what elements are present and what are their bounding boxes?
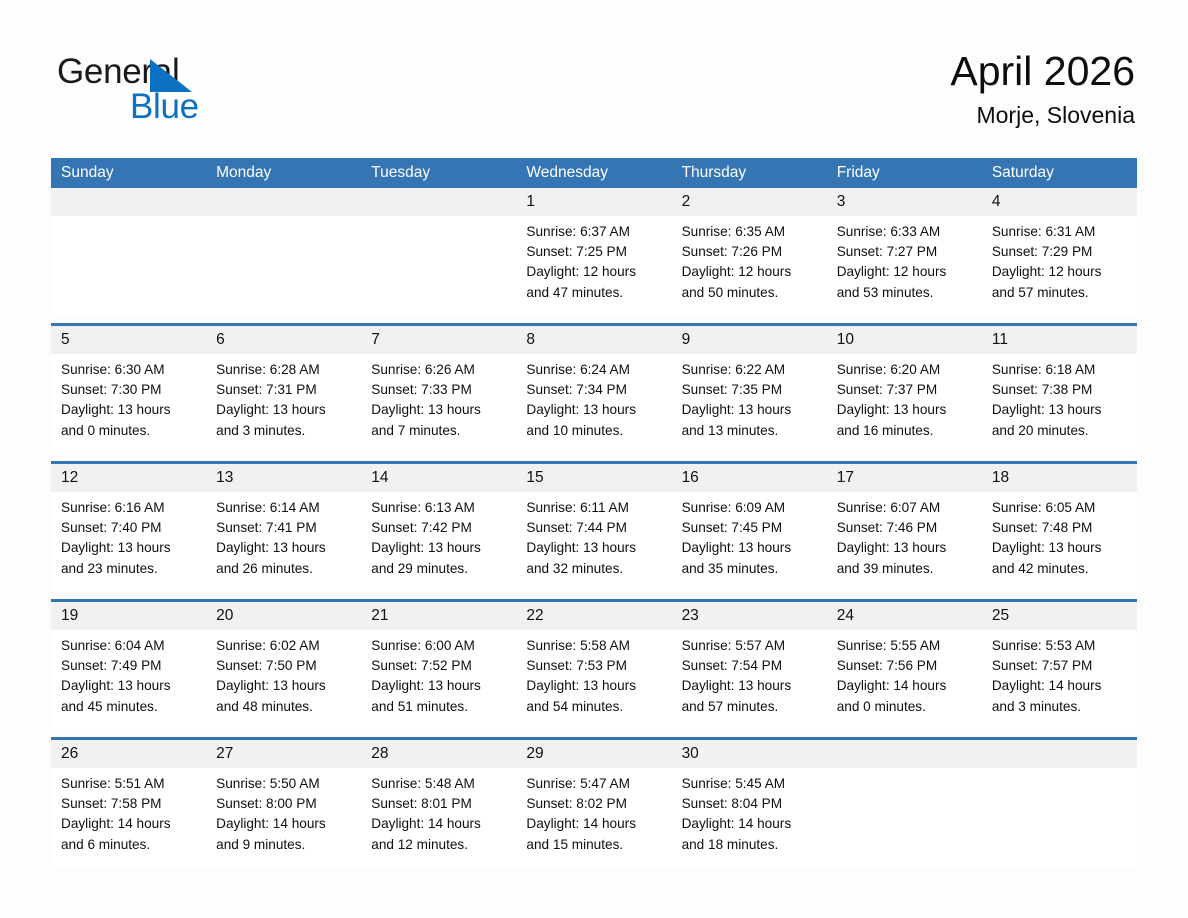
sunset-text: Sunset: 7:33 PM <box>371 380 508 400</box>
sunset-text: Sunset: 7:49 PM <box>61 656 198 676</box>
day-number[interactable]: 5 <box>51 326 206 354</box>
sunrise-text: Sunrise: 6:28 AM <box>216 360 353 380</box>
daylight-text-line1: Daylight: 12 hours <box>837 262 974 282</box>
daylight-text-line1: Daylight: 14 hours <box>837 676 974 696</box>
sunrise-text: Sunrise: 6:09 AM <box>682 498 819 518</box>
sunrise-text: Sunrise: 6:35 AM <box>682 222 819 242</box>
sunrise-text: Sunrise: 6:30 AM <box>61 360 198 380</box>
daylight-text-line1: Daylight: 13 hours <box>992 400 1129 420</box>
sunset-text: Sunset: 7:52 PM <box>371 656 508 676</box>
day-number-empty <box>827 740 982 768</box>
sunset-text: Sunset: 7:40 PM <box>61 518 198 538</box>
sunrise-text: Sunrise: 6:31 AM <box>992 222 1129 242</box>
sunrise-text: Sunrise: 6:26 AM <box>371 360 508 380</box>
day-cell[interactable]: Sunrise: 6:31 AMSunset: 7:29 PMDaylight:… <box>982 216 1137 316</box>
daylight-text-line1: Daylight: 12 hours <box>526 262 663 282</box>
sunset-text: Sunset: 7:27 PM <box>837 242 974 262</box>
day-cell[interactable]: Sunrise: 5:45 AMSunset: 8:04 PMDaylight:… <box>672 768 827 868</box>
week-daynumber-row: 2627282930 <box>51 740 1137 768</box>
weeks-container: 1234Sunrise: 6:37 AMSunset: 7:25 PMDayli… <box>51 188 1137 868</box>
page-subtitle: Morje, Slovenia <box>950 100 1135 130</box>
daylight-text-line1: Daylight: 13 hours <box>682 400 819 420</box>
day-number[interactable]: 30 <box>672 740 827 768</box>
sunset-text: Sunset: 8:04 PM <box>682 794 819 814</box>
day-cell[interactable]: Sunrise: 6:11 AMSunset: 7:44 PMDaylight:… <box>516 492 671 592</box>
sunrise-text: Sunrise: 6:02 AM <box>216 636 353 656</box>
sunrise-text: Sunrise: 6:04 AM <box>61 636 198 656</box>
day-number[interactable]: 27 <box>206 740 361 768</box>
sunset-text: Sunset: 7:58 PM <box>61 794 198 814</box>
day-cell[interactable]: Sunrise: 5:55 AMSunset: 7:56 PMDaylight:… <box>827 630 982 730</box>
sunset-text: Sunset: 7:34 PM <box>526 380 663 400</box>
day-number[interactable]: 6 <box>206 326 361 354</box>
sunset-text: Sunset: 7:42 PM <box>371 518 508 538</box>
daylight-text-line1: Daylight: 13 hours <box>526 538 663 558</box>
day-number-empty <box>361 188 516 216</box>
sunrise-text: Sunrise: 5:47 AM <box>526 774 663 794</box>
day-cell[interactable]: Sunrise: 5:51 AMSunset: 7:58 PMDaylight:… <box>51 768 206 868</box>
daylight-text-line1: Daylight: 13 hours <box>216 676 353 696</box>
daylight-text-line2: and 0 minutes. <box>837 697 974 717</box>
daylight-text-line2: and 29 minutes. <box>371 559 508 579</box>
page-header: General Blue April 2026 Morje, Slovenia <box>0 0 1188 158</box>
day-cell[interactable]: Sunrise: 6:05 AMSunset: 7:48 PMDaylight:… <box>982 492 1137 592</box>
sunrise-text: Sunrise: 5:58 AM <box>526 636 663 656</box>
daylight-text-line1: Daylight: 13 hours <box>371 538 508 558</box>
day-cell[interactable]: Sunrise: 6:24 AMSunset: 7:34 PMDaylight:… <box>516 354 671 454</box>
weekday-header-thursday: Thursday <box>672 158 827 188</box>
sunrise-text: Sunrise: 5:48 AM <box>371 774 508 794</box>
sunrise-text: Sunrise: 6:14 AM <box>216 498 353 518</box>
day-number[interactable]: 23 <box>672 602 827 630</box>
daylight-text-line1: Daylight: 14 hours <box>371 814 508 834</box>
daylight-text-line2: and 48 minutes. <box>216 697 353 717</box>
daylight-text-line2: and 45 minutes. <box>61 697 198 717</box>
sunrise-text: Sunrise: 5:53 AM <box>992 636 1129 656</box>
daylight-text-line2: and 54 minutes. <box>526 697 663 717</box>
daylight-text-line1: Daylight: 13 hours <box>61 676 198 696</box>
day-cell[interactable]: Sunrise: 6:04 AMSunset: 7:49 PMDaylight:… <box>51 630 206 730</box>
daylight-text-line2: and 26 minutes. <box>216 559 353 579</box>
daylight-text-line2: and 20 minutes. <box>992 421 1129 441</box>
week-content-row: Sunrise: 6:37 AMSunset: 7:25 PMDaylight:… <box>51 216 1137 316</box>
sunrise-text: Sunrise: 5:51 AM <box>61 774 198 794</box>
sunset-text: Sunset: 7:25 PM <box>526 242 663 262</box>
daylight-text-line2: and 32 minutes. <box>526 559 663 579</box>
day-number[interactable]: 29 <box>516 740 671 768</box>
day-cell[interactable]: Sunrise: 6:07 AMSunset: 7:46 PMDaylight:… <box>827 492 982 592</box>
day-number[interactable]: 14 <box>361 464 516 492</box>
day-cell[interactable]: Sunrise: 5:58 AMSunset: 7:53 PMDaylight:… <box>516 630 671 730</box>
calendar-week-row: 1234Sunrise: 6:37 AMSunset: 7:25 PMDayli… <box>51 188 1137 316</box>
daylight-text-line2: and 51 minutes. <box>371 697 508 717</box>
daylight-text-line2: and 47 minutes. <box>526 283 663 303</box>
calendar-week-row: 12131415161718Sunrise: 6:16 AMSunset: 7:… <box>51 461 1137 592</box>
weekday-header-wednesday: Wednesday <box>516 158 671 188</box>
sunset-text: Sunset: 7:54 PM <box>682 656 819 676</box>
day-cell[interactable]: Sunrise: 5:48 AMSunset: 8:01 PMDaylight:… <box>361 768 516 868</box>
day-number[interactable]: 9 <box>672 326 827 354</box>
day-number-empty <box>982 740 1137 768</box>
day-cell[interactable]: Sunrise: 6:00 AMSunset: 7:52 PMDaylight:… <box>361 630 516 730</box>
daylight-text-line2: and 35 minutes. <box>682 559 819 579</box>
daylight-text-line2: and 39 minutes. <box>837 559 974 579</box>
daylight-text-line1: Daylight: 13 hours <box>526 400 663 420</box>
daylight-text-line1: Daylight: 12 hours <box>682 262 819 282</box>
daylight-text-line1: Daylight: 14 hours <box>526 814 663 834</box>
daylight-text-line2: and 15 minutes. <box>526 835 663 855</box>
day-number[interactable]: 17 <box>827 464 982 492</box>
day-number[interactable]: 24 <box>827 602 982 630</box>
day-cell-empty <box>982 768 1137 868</box>
day-number[interactable]: 28 <box>361 740 516 768</box>
daylight-text-line2: and 53 minutes. <box>837 283 974 303</box>
sunset-text: Sunset: 7:38 PM <box>992 380 1129 400</box>
daylight-text-line2: and 18 minutes. <box>682 835 819 855</box>
daylight-text-line2: and 9 minutes. <box>216 835 353 855</box>
day-cell[interactable]: Sunrise: 6:35 AMSunset: 7:26 PMDaylight:… <box>672 216 827 316</box>
sunset-text: Sunset: 7:53 PM <box>526 656 663 676</box>
day-cell[interactable]: Sunrise: 6:13 AMSunset: 7:42 PMDaylight:… <box>361 492 516 592</box>
day-cell[interactable]: Sunrise: 5:57 AMSunset: 7:54 PMDaylight:… <box>672 630 827 730</box>
daylight-text-line1: Daylight: 13 hours <box>61 538 198 558</box>
daylight-text-line1: Daylight: 13 hours <box>526 676 663 696</box>
sunrise-text: Sunrise: 6:13 AM <box>371 498 508 518</box>
daylight-text-line2: and 57 minutes. <box>992 283 1129 303</box>
sunset-text: Sunset: 7:44 PM <box>526 518 663 538</box>
calendar-week-row: 2627282930Sunrise: 5:51 AMSunset: 7:58 P… <box>51 737 1137 868</box>
sunrise-text: Sunrise: 6:05 AM <box>992 498 1129 518</box>
day-number[interactable]: 12 <box>51 464 206 492</box>
week-content-row: Sunrise: 6:04 AMSunset: 7:49 PMDaylight:… <box>51 630 1137 730</box>
weekday-header-saturday: Saturday <box>982 158 1137 188</box>
week-content-row: Sunrise: 6:16 AMSunset: 7:40 PMDaylight:… <box>51 492 1137 592</box>
daylight-text-line1: Daylight: 14 hours <box>216 814 353 834</box>
daylight-text-line2: and 7 minutes. <box>371 421 508 441</box>
week-daynumber-row: 567891011 <box>51 326 1137 354</box>
sunrise-text: Sunrise: 6:16 AM <box>61 498 198 518</box>
day-cell[interactable]: Sunrise: 6:33 AMSunset: 7:27 PMDaylight:… <box>827 216 982 316</box>
day-number[interactable]: 22 <box>516 602 671 630</box>
daylight-text-line1: Daylight: 13 hours <box>682 676 819 696</box>
daylight-text-line2: and 16 minutes. <box>837 421 974 441</box>
day-cell[interactable]: Sunrise: 5:50 AMSunset: 8:00 PMDaylight:… <box>206 768 361 868</box>
daylight-text-line2: and 57 minutes. <box>682 697 819 717</box>
sunrise-text: Sunrise: 5:55 AM <box>837 636 974 656</box>
weekday-header-monday: Monday <box>206 158 361 188</box>
daylight-text-line1: Daylight: 13 hours <box>61 400 198 420</box>
weekday-header-tuesday: Tuesday <box>361 158 516 188</box>
weekday-header-row: Sunday Monday Tuesday Wednesday Thursday… <box>51 158 1137 188</box>
week-content-row: Sunrise: 6:30 AMSunset: 7:30 PMDaylight:… <box>51 354 1137 454</box>
day-cell[interactable]: Sunrise: 6:37 AMSunset: 7:25 PMDaylight:… <box>516 216 671 316</box>
day-number[interactable]: 16 <box>672 464 827 492</box>
day-number[interactable]: 4 <box>982 188 1137 216</box>
page-title: April 2026 <box>950 46 1135 96</box>
week-daynumber-row: 12131415161718 <box>51 464 1137 492</box>
day-number[interactable]: 7 <box>361 326 516 354</box>
daylight-text-line1: Daylight: 13 hours <box>837 400 974 420</box>
daylight-text-line2: and 23 minutes. <box>61 559 198 579</box>
sunset-text: Sunset: 7:45 PM <box>682 518 819 538</box>
week-daynumber-row: 1234 <box>51 188 1137 216</box>
weekday-header-friday: Friday <box>827 158 982 188</box>
logo-text-blue: Blue <box>130 87 199 127</box>
day-cell[interactable]: Sunrise: 6:16 AMSunset: 7:40 PMDaylight:… <box>51 492 206 592</box>
daylight-text-line2: and 0 minutes. <box>61 421 198 441</box>
day-number[interactable]: 10 <box>827 326 982 354</box>
sunrise-text: Sunrise: 6:00 AM <box>371 636 508 656</box>
sunrise-text: Sunrise: 6:33 AM <box>837 222 974 242</box>
day-cell[interactable]: Sunrise: 6:30 AMSunset: 7:30 PMDaylight:… <box>51 354 206 454</box>
day-cell[interactable]: Sunrise: 6:28 AMSunset: 7:31 PMDaylight:… <box>206 354 361 454</box>
sunset-text: Sunset: 7:37 PM <box>837 380 974 400</box>
daylight-text-line1: Daylight: 12 hours <box>992 262 1129 282</box>
daylight-text-line2: and 12 minutes. <box>371 835 508 855</box>
day-cell-empty <box>206 216 361 316</box>
daylight-text-line1: Daylight: 13 hours <box>837 538 974 558</box>
daylight-text-line1: Daylight: 13 hours <box>992 538 1129 558</box>
sunset-text: Sunset: 8:01 PM <box>371 794 508 814</box>
day-cell[interactable]: Sunrise: 6:14 AMSunset: 7:41 PMDaylight:… <box>206 492 361 592</box>
daylight-text-line2: and 6 minutes. <box>61 835 198 855</box>
daylight-text-line1: Daylight: 14 hours <box>992 676 1129 696</box>
sunset-text: Sunset: 7:50 PM <box>216 656 353 676</box>
day-cell[interactable]: Sunrise: 6:09 AMSunset: 7:45 PMDaylight:… <box>672 492 827 592</box>
week-daynumber-row: 19202122232425 <box>51 602 1137 630</box>
calendar-grid: Sunday Monday Tuesday Wednesday Thursday… <box>51 158 1137 868</box>
daylight-text-line2: and 10 minutes. <box>526 421 663 441</box>
day-number-empty <box>206 188 361 216</box>
day-number[interactable]: 8 <box>516 326 671 354</box>
sunrise-text: Sunrise: 5:45 AM <box>682 774 819 794</box>
week-content-row: Sunrise: 5:51 AMSunset: 7:58 PMDaylight:… <box>51 768 1137 868</box>
day-cell[interactable]: Sunrise: 6:02 AMSunset: 7:50 PMDaylight:… <box>206 630 361 730</box>
day-cell[interactable]: Sunrise: 6:22 AMSunset: 7:35 PMDaylight:… <box>672 354 827 454</box>
day-number-empty <box>51 188 206 216</box>
day-number[interactable]: 21 <box>361 602 516 630</box>
day-number[interactable]: 25 <box>982 602 1137 630</box>
day-number[interactable]: 13 <box>206 464 361 492</box>
day-cell[interactable]: Sunrise: 6:18 AMSunset: 7:38 PMDaylight:… <box>982 354 1137 454</box>
sunset-text: Sunset: 7:46 PM <box>837 518 974 538</box>
sunset-text: Sunset: 7:57 PM <box>992 656 1129 676</box>
day-number[interactable]: 11 <box>982 326 1137 354</box>
sunset-text: Sunset: 8:00 PM <box>216 794 353 814</box>
daylight-text-line1: Daylight: 14 hours <box>682 814 819 834</box>
sunset-text: Sunset: 7:29 PM <box>992 242 1129 262</box>
calendar-week-row: 19202122232425Sunrise: 6:04 AMSunset: 7:… <box>51 599 1137 730</box>
daylight-text-line2: and 3 minutes. <box>216 421 353 441</box>
day-number[interactable]: 15 <box>516 464 671 492</box>
daylight-text-line2: and 42 minutes. <box>992 559 1129 579</box>
daylight-text-line2: and 3 minutes. <box>992 697 1129 717</box>
daylight-text-line1: Daylight: 13 hours <box>682 538 819 558</box>
sunset-text: Sunset: 8:02 PM <box>526 794 663 814</box>
daylight-text-line1: Daylight: 13 hours <box>216 400 353 420</box>
sunrise-text: Sunrise: 6:07 AM <box>837 498 974 518</box>
day-number[interactable]: 19 <box>51 602 206 630</box>
day-cell-empty <box>361 216 516 316</box>
day-cell[interactable]: Sunrise: 5:47 AMSunset: 8:02 PMDaylight:… <box>516 768 671 868</box>
day-cell[interactable]: Sunrise: 5:53 AMSunset: 7:57 PMDaylight:… <box>982 630 1137 730</box>
sunset-text: Sunset: 7:56 PM <box>837 656 974 676</box>
sunrise-text: Sunrise: 5:57 AM <box>682 636 819 656</box>
daylight-text-line1: Daylight: 14 hours <box>61 814 198 834</box>
day-cell[interactable]: Sunrise: 6:20 AMSunset: 7:37 PMDaylight:… <box>827 354 982 454</box>
daylight-text-line2: and 13 minutes. <box>682 421 819 441</box>
sunset-text: Sunset: 7:31 PM <box>216 380 353 400</box>
sunset-text: Sunset: 7:30 PM <box>61 380 198 400</box>
calendar-week-row: 567891011Sunrise: 6:30 AMSunset: 7:30 PM… <box>51 323 1137 454</box>
generalblue-logo[interactable]: General Blue <box>57 52 317 130</box>
day-number[interactable]: 1 <box>516 188 671 216</box>
day-number[interactable]: 20 <box>206 602 361 630</box>
sunrise-text: Sunrise: 6:22 AM <box>682 360 819 380</box>
day-number[interactable]: 3 <box>827 188 982 216</box>
sunrise-text: Sunrise: 6:24 AM <box>526 360 663 380</box>
sunrise-text: Sunrise: 5:50 AM <box>216 774 353 794</box>
daylight-text-line1: Daylight: 13 hours <box>371 400 508 420</box>
daylight-text-line2: and 50 minutes. <box>682 283 819 303</box>
sunset-text: Sunset: 7:41 PM <box>216 518 353 538</box>
sunset-text: Sunset: 7:26 PM <box>682 242 819 262</box>
sunrise-text: Sunrise: 6:20 AM <box>837 360 974 380</box>
weekday-header-sunday: Sunday <box>51 158 206 188</box>
sunrise-text: Sunrise: 6:18 AM <box>992 360 1129 380</box>
day-cell[interactable]: Sunrise: 6:26 AMSunset: 7:33 PMDaylight:… <box>361 354 516 454</box>
daylight-text-line1: Daylight: 13 hours <box>216 538 353 558</box>
day-number[interactable]: 26 <box>51 740 206 768</box>
day-number[interactable]: 2 <box>672 188 827 216</box>
sunset-text: Sunset: 7:35 PM <box>682 380 819 400</box>
calendar-page: General Blue April 2026 Morje, Slovenia … <box>0 0 1188 918</box>
day-cell-empty <box>51 216 206 316</box>
sunrise-text: Sunrise: 6:37 AM <box>526 222 663 242</box>
daylight-text-line1: Daylight: 13 hours <box>371 676 508 696</box>
sunset-text: Sunset: 7:48 PM <box>992 518 1129 538</box>
day-cell-empty <box>827 768 982 868</box>
title-block: April 2026 Morje, Slovenia <box>950 46 1135 130</box>
day-number[interactable]: 18 <box>982 464 1137 492</box>
sunrise-text: Sunrise: 6:11 AM <box>526 498 663 518</box>
